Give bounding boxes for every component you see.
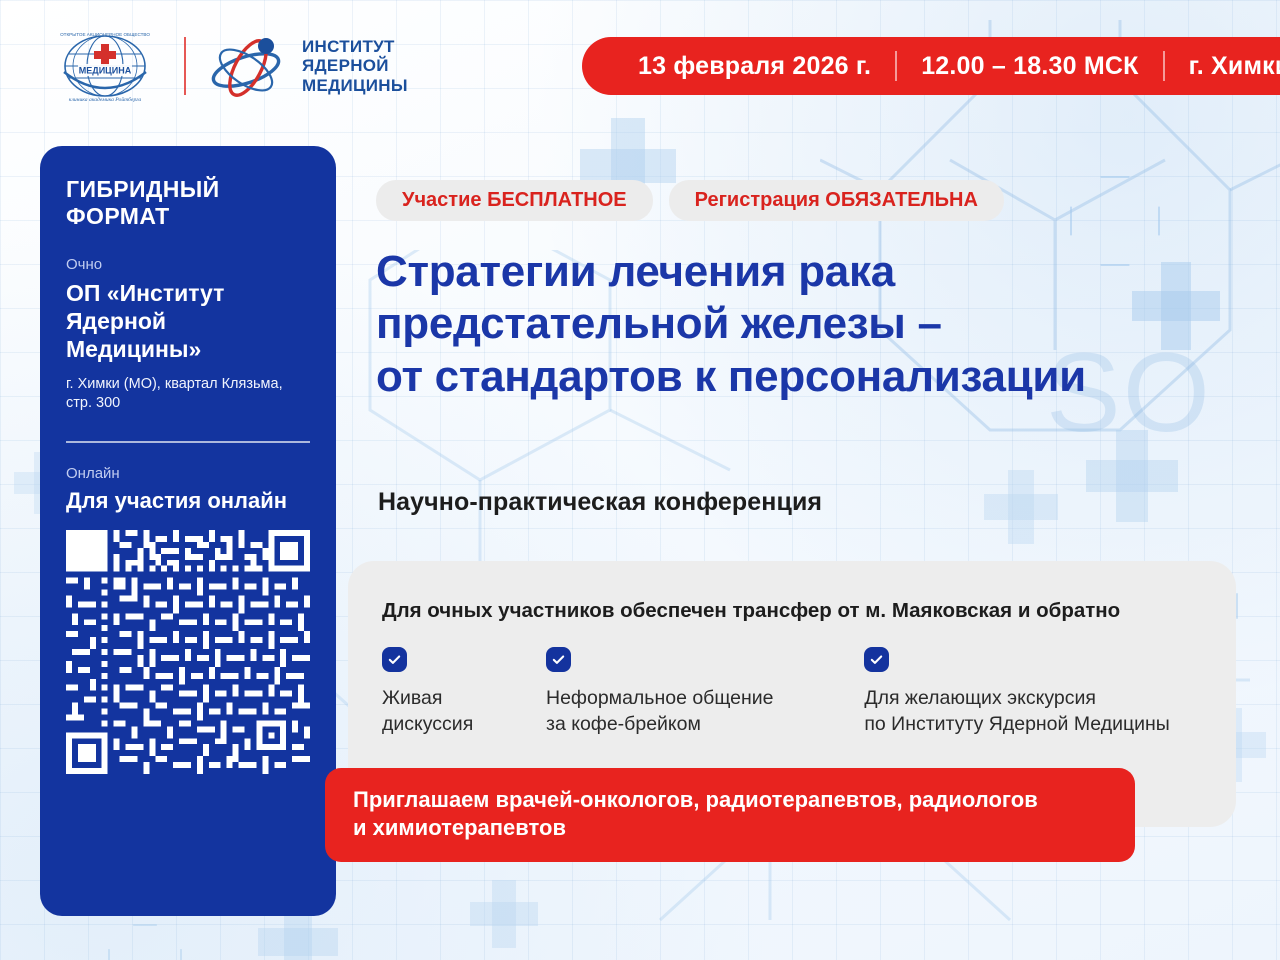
page-title: Стратегии лечения рака предстательной же… xyxy=(376,246,1216,403)
qr-code-online-registration[interactable] xyxy=(66,526,310,778)
cross-decor-3 xyxy=(1086,430,1178,522)
institute-logo-text: ИНСТИТУТ ЯДЕРНОЙ МЕДИЦИНЫ xyxy=(302,37,408,96)
cross-decor-6 xyxy=(470,880,538,948)
header-logos: МЕДИЦИНА ОТКРЫТОЕ АКЦИОНЕРНОЕ ОБЩЕСТВО к… xyxy=(46,26,408,106)
event-time: 12.00 – 18.30 МСК xyxy=(921,52,1138,81)
sidebar-offline-kicker: Очно xyxy=(66,256,310,273)
svg-text:клиника академика Ройтберга: клиника академика Ройтберга xyxy=(69,96,142,103)
transfer-info-heading: Для очных участников обеспечен трансфер … xyxy=(382,599,1202,623)
banner-divider xyxy=(1163,51,1165,81)
banner-divider xyxy=(895,51,897,81)
atom-icon xyxy=(206,34,292,98)
feature-list: Живая дискуссия Неформальное общение за … xyxy=(382,647,1202,738)
sidebar-offline-address: г. Химки (МО), квартал Клязьма, стр. 300 xyxy=(66,375,310,413)
logo-divider xyxy=(184,37,186,95)
feature-item: Для желающих экскурсия по Институту Ядер… xyxy=(864,647,1202,738)
cross-decor-4 xyxy=(984,470,1058,544)
status-badge-registration-required: Регистрация ОБЯЗАТЕЛЬНА xyxy=(669,180,1004,221)
hybrid-format-sidebar: ГИБРИДНЫЙ ФОРМАТ Очно ОП «Институт Ядерн… xyxy=(40,146,336,916)
institute-logo: ИНСТИТУТ ЯДЕРНОЙ МЕДИЦИНЫ xyxy=(206,34,408,98)
status-badge-free-participation: Участие БЕСПЛАТНОЕ xyxy=(376,180,653,221)
sidebar-divider xyxy=(66,441,310,443)
sidebar-offline-venue: ОП «Институт Ядерной Медицины» xyxy=(66,279,310,363)
event-date: 13 февраля 2026 г. xyxy=(638,52,871,81)
medicina-clinic-logo: МЕДИЦИНА ОТКРЫТОЕ АКЦИОНЕРНОЕ ОБЩЕСТВО к… xyxy=(46,26,164,106)
svg-text:МЕДИЦИНА: МЕДИЦИНА xyxy=(79,66,132,76)
cross-outline-decor-3 xyxy=(108,924,182,960)
poster-root: SO МЕДИЦИНА ОТКРЫТОЕ АКЦИОНЕРНОЕ ОБЩЕСТВ… xyxy=(0,0,1280,960)
audience-invitation-banner: Приглашаем врачей-онкологов, радиотерапе… xyxy=(325,768,1135,862)
page-subtitle: Научно-практическая конференция xyxy=(378,488,822,517)
date-time-location-banner: 13 февраля 2026 г. 12.00 – 18.30 МСК г. … xyxy=(582,37,1280,95)
check-icon xyxy=(546,647,571,672)
feature-item: Неформальное общение за кофе-брейком xyxy=(546,647,864,738)
check-icon xyxy=(382,647,407,672)
sidebar-format-title: ГИБРИДНЫЙ ФОРМАТ xyxy=(66,176,310,230)
sidebar-online-kicker: Онлайн xyxy=(66,465,310,482)
sidebar-online-title: Для участия онлайн xyxy=(66,488,310,514)
status-badges: Участие БЕСПЛАТНОЕ Регистрация ОБЯЗАТЕЛЬ… xyxy=(376,180,1004,221)
feature-label: Для желающих экскурсия по Институту Ядер… xyxy=(864,686,1202,738)
event-city: г. Химки xyxy=(1189,52,1280,81)
check-icon xyxy=(864,647,889,672)
feature-label: Живая дискуссия xyxy=(382,686,546,738)
feature-item: Живая дискуссия xyxy=(382,647,546,738)
svg-text:ОТКРЫТОЕ АКЦИОНЕРНОЕ ОБЩЕСТВО: ОТКРЫТОЕ АКЦИОНЕРНОЕ ОБЩЕСТВО xyxy=(60,32,150,37)
feature-label: Неформальное общение за кофе-брейком xyxy=(546,686,864,738)
